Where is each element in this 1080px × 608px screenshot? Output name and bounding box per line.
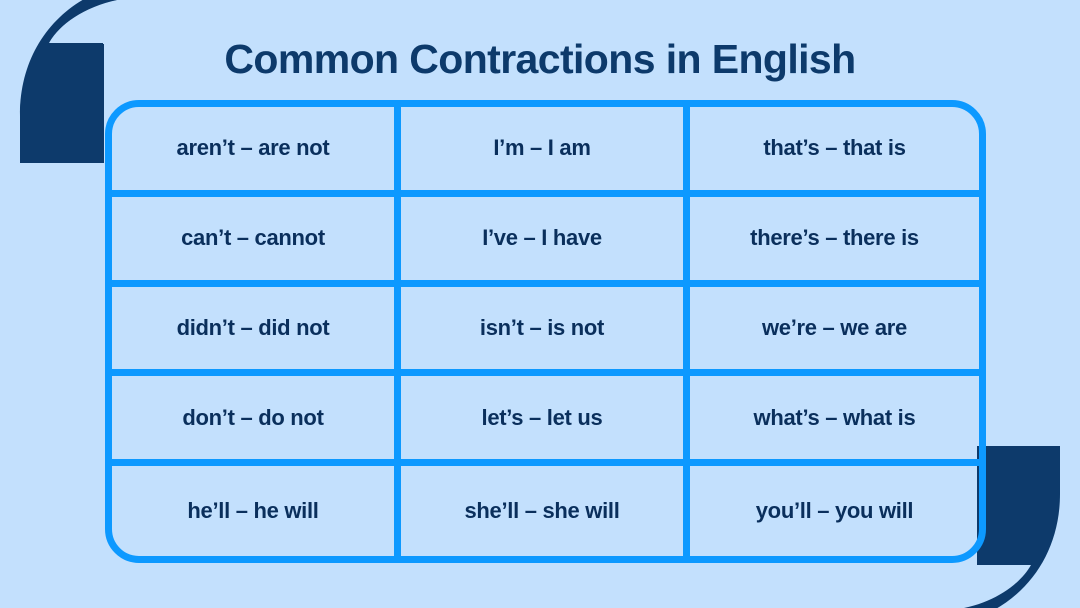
table-cell: she’ll – she will: [401, 466, 690, 556]
table-cell: what’s – what is: [690, 376, 979, 466]
table-cell: I’m – I am: [401, 107, 690, 197]
table-cell: isn’t – is not: [401, 287, 690, 377]
page-title: Common Contractions in English: [0, 36, 1080, 83]
table-cell: there’s – there is: [690, 197, 979, 287]
table-cell: aren’t – are not: [112, 107, 401, 197]
table-cell: let’s – let us: [401, 376, 690, 466]
table-cell: don’t – do not: [112, 376, 401, 466]
table-cell: he’ll – he will: [112, 466, 401, 556]
contractions-grid: aren’t – are not I’m – I am that’s – tha…: [112, 107, 979, 556]
table-cell: I’ve – I have: [401, 197, 690, 287]
contractions-table: aren’t – are not I’m – I am that’s – tha…: [105, 100, 986, 563]
table-cell: you’ll – you will: [690, 466, 979, 556]
table-cell: can’t – cannot: [112, 197, 401, 287]
table-cell: didn’t – did not: [112, 287, 401, 377]
table-cell: that’s – that is: [690, 107, 979, 197]
table-cell: we’re – we are: [690, 287, 979, 377]
